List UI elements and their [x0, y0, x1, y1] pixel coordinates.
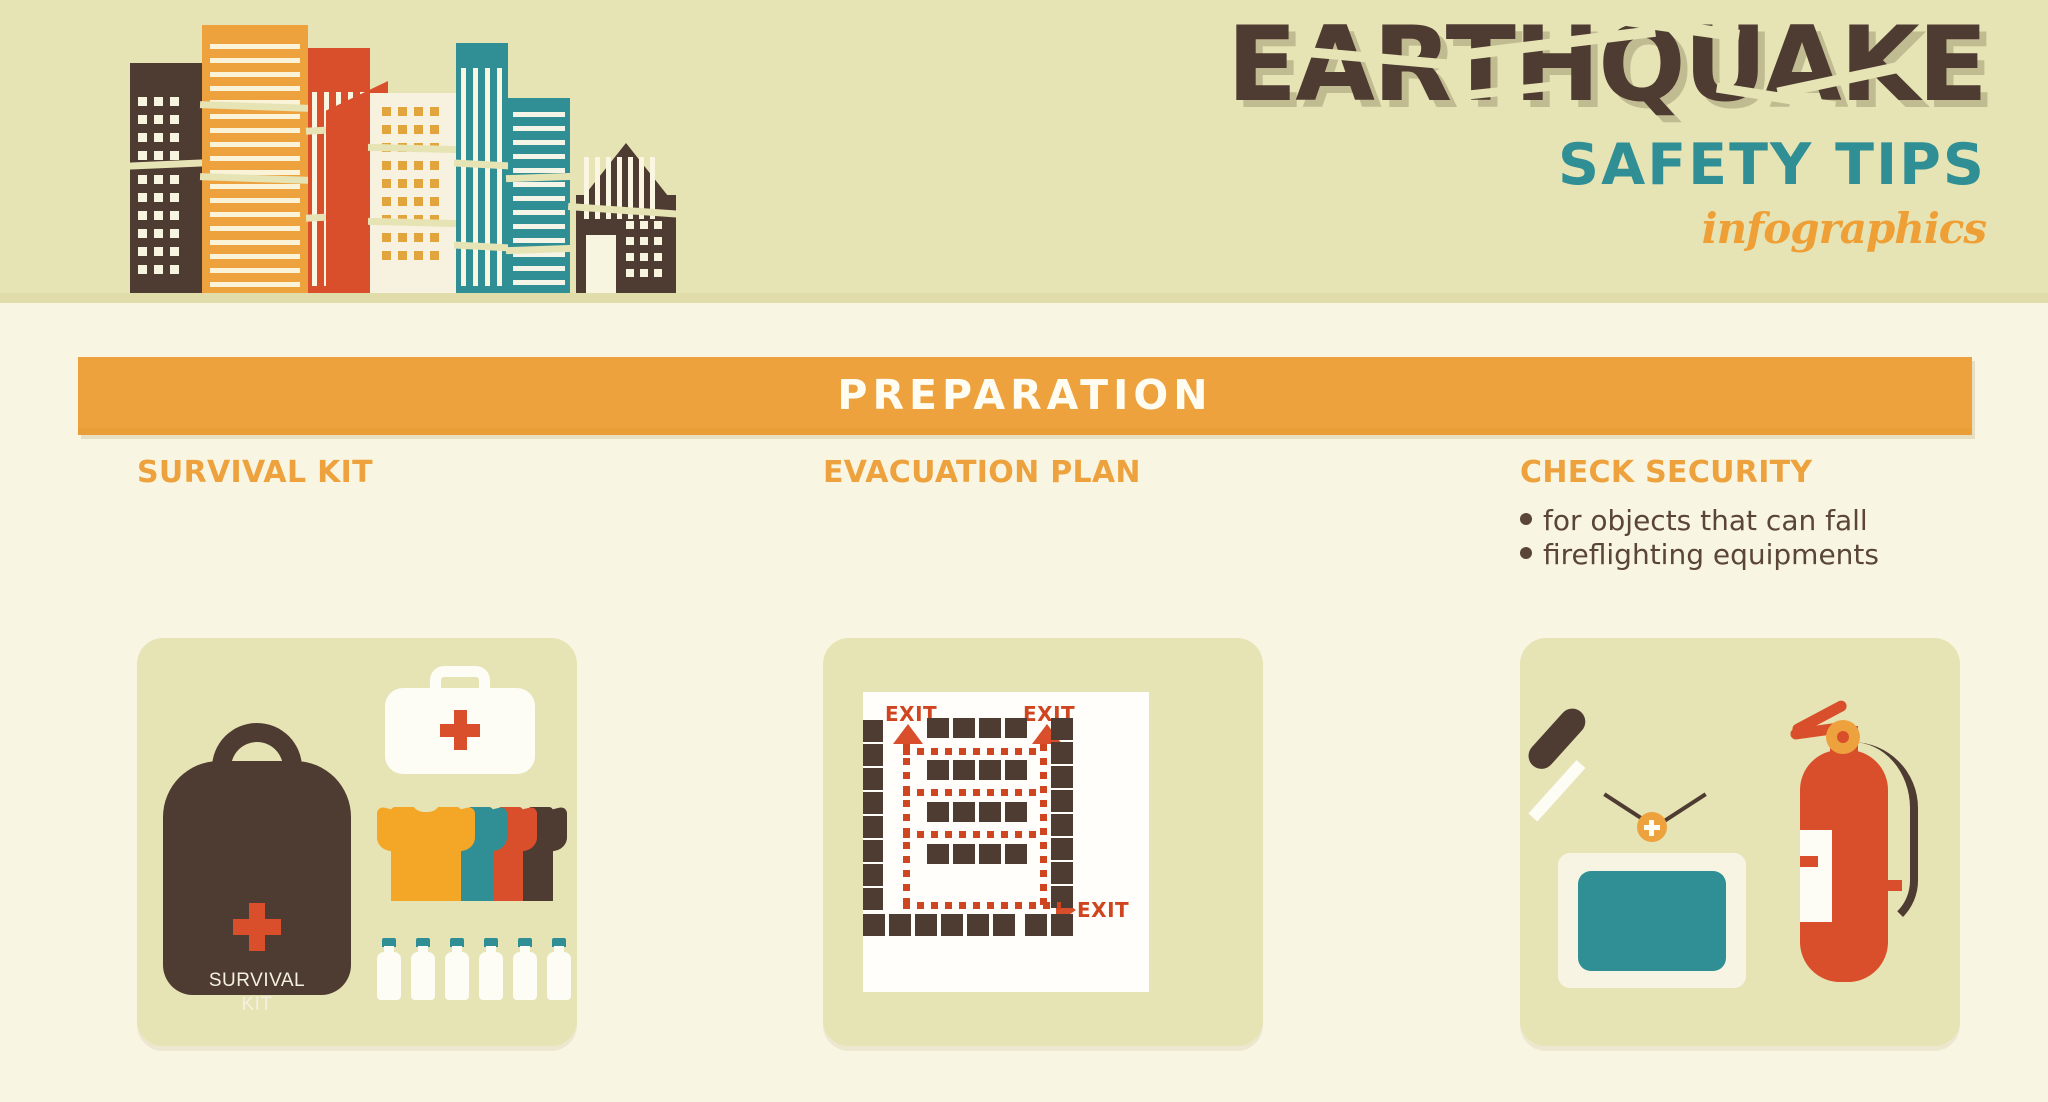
section-banner-label: PREPARATION [78, 371, 1972, 419]
extinguisher-hose-clip [1878, 880, 1902, 891]
backpack-label-line1: SURVIVAL [209, 970, 305, 991]
floor-plan-block [979, 718, 1001, 738]
floor-plan-block [953, 802, 975, 822]
building-house-dark-brown [570, 143, 682, 293]
floor-plan-block [863, 840, 883, 862]
list-item-label: for objects that can fall [1543, 504, 1868, 538]
tshirt-orange [377, 799, 475, 901]
floor-plan-block [889, 914, 911, 936]
water-bottle [377, 938, 401, 1000]
check-security-bullet-list: for objects that can fall fireflighting … [1520, 504, 1990, 572]
backpack-label-line2: KIT [241, 994, 272, 1015]
section-banner-preparation: PREPARATION [78, 357, 1972, 435]
column-title-evacuation-plan: EVACUATION PLAN [823, 455, 1293, 490]
floor-plan-block [863, 720, 883, 742]
column-title-check-security: CHECK SECURITY [1520, 455, 1990, 490]
floor-plan-block [863, 768, 883, 790]
panel-survival-kit: SURVIVAL KIT [137, 638, 577, 1046]
building-tower-teal-tall [456, 43, 508, 293]
escape-route-segment [1040, 744, 1047, 908]
extinguisher-valve-hole [1837, 731, 1849, 743]
bullet-dot-icon [1520, 513, 1532, 525]
title-block: EARTHQUAKE SAFETY TIPS infographics [1206, 14, 1986, 253]
escape-route-segment [903, 831, 1043, 838]
floor-plan-block [927, 760, 949, 780]
column-check-security: CHECK SECURITY for objects that can fall… [1520, 455, 1990, 572]
bullet-dot-icon [1520, 547, 1532, 559]
floor-plan-block [953, 844, 975, 864]
floor-plan-block [1051, 862, 1073, 884]
panel-check-security [1520, 638, 1960, 1046]
panel-evacuation-plan: EXIT EXIT EXIT [823, 638, 1263, 1046]
water-bottles-icon [377, 926, 572, 1000]
tshirts-icon [377, 793, 567, 901]
column-evacuation-plan: EVACUATION PLAN [823, 455, 1293, 490]
list-item-label: fireflighting equipments [1543, 538, 1879, 572]
floor-plan-block [1005, 718, 1027, 738]
floor-plan-block [863, 864, 883, 886]
floor-plan-block [993, 914, 1015, 936]
building-tower-orange [202, 25, 308, 293]
floor-plan-block [927, 844, 949, 864]
city-skyline-illustration [130, 0, 770, 293]
screwdriver-shaft [1528, 760, 1585, 822]
floor-plan-block [979, 802, 1001, 822]
extinguisher-label [1800, 830, 1832, 922]
floor-plan-block [863, 792, 883, 814]
floor-plan-block [1025, 914, 1047, 936]
water-bottle [411, 938, 435, 1000]
water-bottle [445, 938, 469, 1000]
escape-route-segment [903, 902, 1061, 909]
header-band: EARTHQUAKE SAFETY TIPS infographics [0, 0, 2048, 303]
building-tower-dark-brown [130, 63, 202, 293]
building-tower-teal-short [508, 98, 570, 293]
floor-plan-block [979, 760, 1001, 780]
backpack-icon: SURVIVAL KIT [163, 723, 351, 995]
floor-plan-block [1051, 766, 1073, 788]
water-bottle [513, 938, 537, 1000]
floor-plan-diagram: EXIT EXIT EXIT [863, 692, 1149, 992]
picture-frame-inner [1578, 871, 1726, 971]
floor-plan-block [1005, 760, 1027, 780]
escape-route-segment [903, 744, 910, 908]
floor-plan-block [967, 914, 989, 936]
floor-plan-block [1051, 814, 1073, 836]
page-tagline: infographics [1206, 204, 1986, 253]
floor-plan-block [863, 914, 885, 936]
floor-plan-block [927, 718, 949, 738]
floor-plan-block [941, 914, 963, 936]
screw-icon [1637, 812, 1667, 842]
floor-plan-block [1051, 838, 1073, 860]
backpack-body: SURVIVAL KIT [163, 761, 351, 995]
exit-arrow-up-left [893, 724, 923, 744]
floor-plan-block [1051, 718, 1073, 740]
floor-plan-block [927, 802, 949, 822]
water-bottle [479, 938, 503, 1000]
extinguisher-label-bar [1800, 856, 1818, 867]
list-item: fireflighting equipments [1520, 538, 1990, 572]
floor-plan-block [979, 844, 1001, 864]
water-bottle [547, 938, 571, 1000]
floor-plan-block [953, 718, 975, 738]
floor-plan-block [1005, 802, 1027, 822]
exit-label-bottom-right: EXIT [1077, 898, 1129, 922]
floor-plan-block [1051, 914, 1073, 936]
floor-plan-block [863, 888, 883, 910]
hanging-picture-frame-icon [1558, 853, 1746, 988]
page-subtitle: SAFETY TIPS [1206, 132, 1986, 198]
backpack-label: SURVIVAL KIT [163, 969, 351, 1017]
floor-plan-block [863, 744, 883, 766]
fire-extinguisher-icon [1786, 672, 1926, 992]
red-cross-icon [233, 903, 281, 951]
floor-plan-block [915, 914, 937, 936]
first-aid-kit-icon [385, 666, 535, 774]
preparation-columns: SURVIVAL KIT SURVIVAL KIT [0, 455, 2048, 1102]
floor-plan-block [1051, 790, 1073, 812]
floor-plan-block [1005, 844, 1027, 864]
floor-plan-block [1051, 742, 1073, 764]
list-item: for objects that can fall [1520, 504, 1990, 538]
column-title-survival-kit: SURVIVAL KIT [137, 455, 607, 490]
floor-plan-block [953, 760, 975, 780]
page-title-text: EARTHQUAKE [1227, 14, 1986, 117]
floor-plan-block [863, 816, 883, 838]
escape-route-segment [903, 789, 1043, 796]
page-title: EARTHQUAKE [1206, 14, 1986, 126]
escape-route-segment [903, 748, 1043, 755]
red-cross-icon [440, 710, 480, 750]
column-survival-kit: SURVIVAL KIT [137, 455, 607, 490]
building-tower-cream [370, 93, 456, 293]
